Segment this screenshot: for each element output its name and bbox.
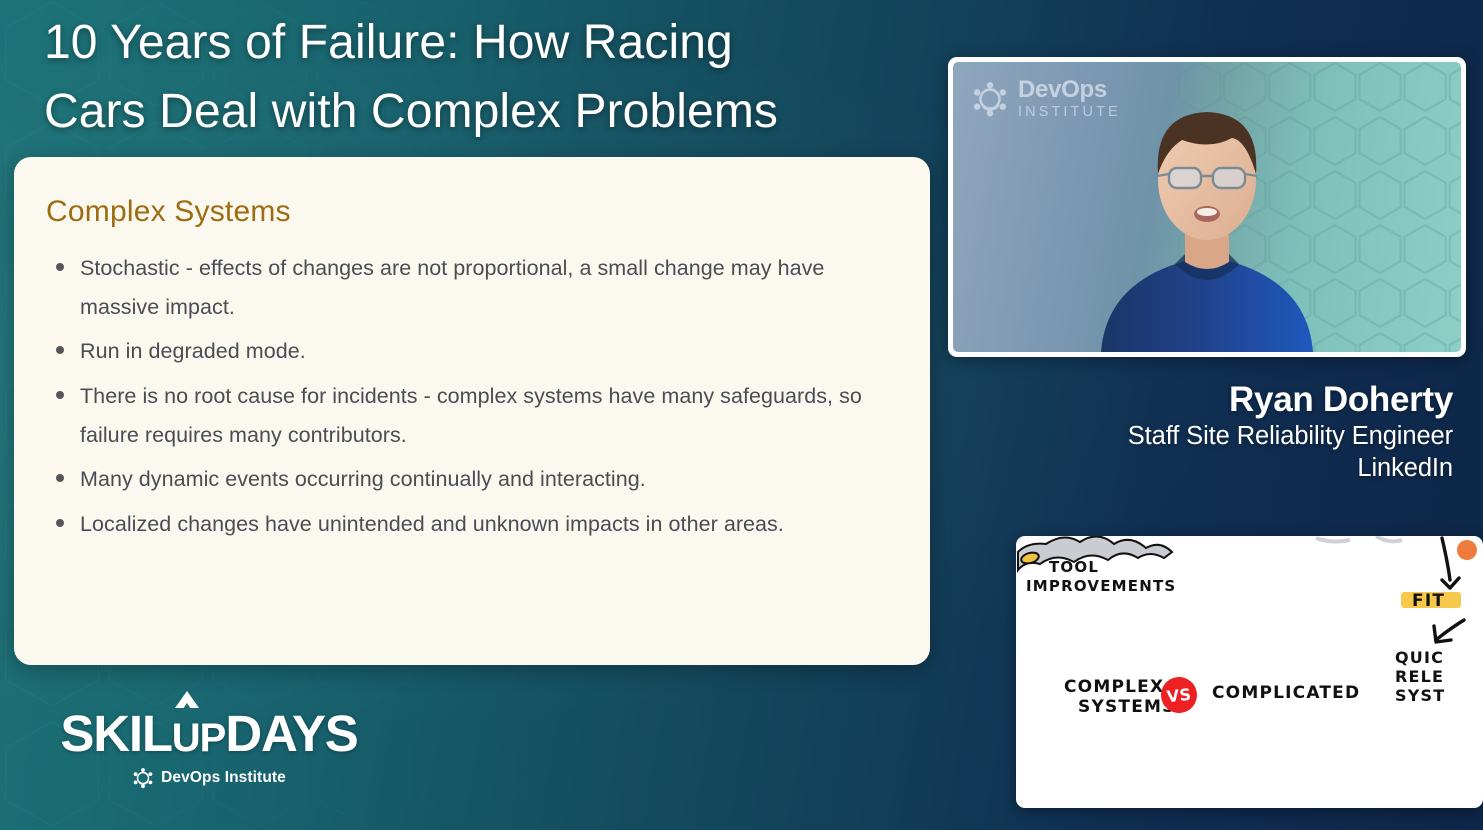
speaker-webcam-video: DevOps INSTITUTE — [953, 62, 1461, 352]
slide-heading: Complex Systems — [46, 195, 896, 229]
slide-bullet-item: Many dynamic events occurring continuall… — [46, 460, 896, 499]
bullet-text: Run in degraded mode. — [80, 332, 306, 371]
devops-institute-node-icon — [971, 80, 1009, 118]
bullet-dot-icon — [56, 474, 64, 482]
whiteboard-label-improvements: IMPROVEMENTS — [1026, 577, 1176, 595]
bullet-text: There is no root cause for incidents - c… — [80, 377, 880, 454]
whiteboard-label-system: SYST — [1395, 686, 1445, 705]
watermark-devops: DevOps — [1018, 78, 1121, 102]
bullet-text: Stochastic - effects of changes are not … — [80, 249, 880, 326]
slide-bullet-item: There is no root cause for incidents - c… — [46, 377, 896, 454]
whiteboard-label-fit: FIT — [1412, 591, 1445, 611]
whiteboard-label-tool: TOOL — [1049, 558, 1099, 576]
whiteboard-label-complex: COMPLEX — [1064, 677, 1164, 697]
whiteboard-label-quick: QUIC — [1395, 648, 1444, 667]
whiteboard-label-release: RELE — [1395, 667, 1444, 686]
slide-content-card: Complex Systems Stochastic - effects of … — [14, 157, 930, 665]
brand-wordmark-skil: SKIL — [60, 708, 171, 759]
speaker-company: LinkedIn — [1128, 453, 1453, 485]
bullet-text: Many dynamic events occurring continuall… — [80, 460, 646, 499]
bullet-dot-icon — [56, 263, 64, 271]
brand-sub-lockup: DevOps Institute — [44, 767, 374, 789]
speaker-role: Staff Site Reliability Engineer — [1128, 421, 1453, 453]
webcam-devops-watermark: DevOps INSTITUTE — [971, 78, 1121, 120]
caret-accent-inner-icon — [181, 703, 193, 712]
devops-institute-node-icon — [132, 767, 154, 789]
presentation-title: 10 Years of Failure: How Racing Cars Dea… — [44, 8, 944, 146]
brand-wordmark-up: UP — [172, 718, 226, 758]
watermark-institute: INSTITUTE — [1018, 105, 1121, 120]
presentation-stage: 10 Years of Failure: How Racing Cars Dea… — [0, 0, 1483, 830]
title-line-2: Cars Deal with Complex Problems — [44, 77, 944, 146]
speaker-name: Ryan Doherty — [1128, 380, 1453, 419]
webcam-watermark-text: DevOps INSTITUTE — [1018, 78, 1121, 120]
slide-bullet-item: Stochastic - effects of changes are not … — [46, 249, 896, 326]
bullet-text: Localized changes have unintended and un… — [80, 505, 784, 544]
bullet-dot-icon — [56, 391, 64, 399]
speaker-webcam-frame: DevOps INSTITUTE — [948, 57, 1466, 357]
brand-wordmark-days: DAYS — [225, 708, 357, 759]
brand-sub-text: DevOps Institute — [161, 769, 286, 787]
speaker-info: Ryan Doherty Staff Site Reliability Engi… — [1128, 380, 1453, 484]
slide-bullet-item: Localized changes have unintended and un… — [46, 505, 896, 544]
brand-wordmark: SKIL UP DAYS — [44, 708, 374, 759]
skilup-days-logo: SKIL UP DAYS DevOps Institute — [44, 708, 374, 806]
title-line-1: 10 Years of Failure: How Racing — [44, 8, 944, 77]
whiteboard-label-complicated: COMPLICATED — [1212, 683, 1360, 703]
bullet-dot-icon — [56, 346, 64, 354]
whiteboard-sketch-panel: TOOL IMPROVEMENTS COMPLEX SYSTEMS VS COM… — [1016, 536, 1483, 808]
bullet-dot-icon — [56, 519, 64, 527]
slide-bullet-item: Run in degraded mode. — [46, 332, 896, 371]
